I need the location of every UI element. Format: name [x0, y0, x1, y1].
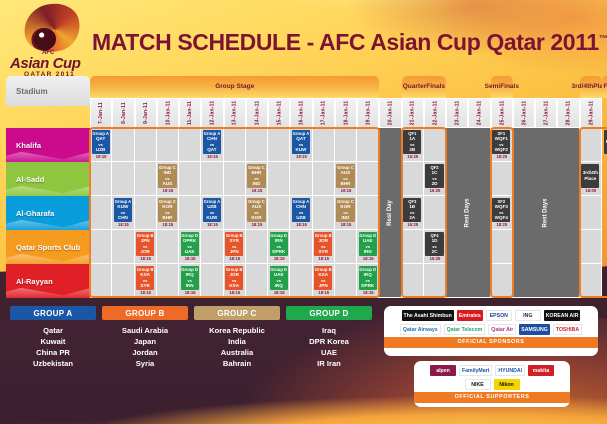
trademark-symbol: ™	[599, 33, 607, 43]
legend-team-name: Jordan	[102, 347, 188, 358]
grid-cell	[313, 128, 335, 162]
match-kickoff-time: 19:15	[201, 154, 223, 159]
legend-group-title: GROUP A	[10, 306, 96, 320]
match-matrix: Rest DayRest DaysRest DaysGroup AQATvsUZ…	[90, 128, 602, 298]
poster-header: AFC Asian Cup QATAR 2011 www.afcasiancup…	[0, 0, 607, 78]
schedule-grid: Stadium KhalifaAl-SaddAl-GharafaQatar Sp…	[6, 128, 602, 298]
date-cell-26-Jan-11: 26-Jan-11	[513, 98, 535, 128]
match-kickoff-time: 18:15	[112, 222, 134, 227]
date-label: 25-Jan-11	[499, 101, 505, 126]
group-legend: GROUP AQatarKuwaitChina PRUzbekistanGROU…	[10, 306, 370, 388]
phase-header-line: Finals	[426, 83, 445, 91]
match-kickoff-time: 18:15	[290, 222, 312, 227]
grid-cell	[246, 264, 268, 298]
grid-cell	[90, 196, 112, 230]
sponsor-logo-samsung[interactable]: SAMSUNG	[519, 324, 550, 335]
logo-asian-cup-text: Asian Cup	[10, 55, 81, 72]
date-label: 18-Jan-11	[343, 101, 349, 126]
supporter-logo-nikon[interactable]: Nikon	[494, 379, 520, 390]
rest-day-block: Rest Day	[379, 128, 400, 297]
grid-cell	[157, 230, 179, 264]
date-label: 20-Jan-11	[388, 101, 394, 126]
match-card[interactable]: QF11Avs2B	[403, 130, 421, 154]
grid-cell	[90, 264, 112, 298]
grid-cell	[90, 162, 112, 196]
stadium-wave-decoration	[6, 148, 90, 162]
match-kickoff-time: 16:25	[424, 188, 446, 193]
grid-cell	[335, 230, 357, 264]
official-sponsors-label: OFFICIAL SPONSORS	[384, 337, 598, 348]
match-away-team: AUS	[163, 181, 173, 186]
match-card[interactable]: Group CKORvsBHR	[158, 198, 176, 222]
legend-team-name: Bahrain	[194, 358, 280, 369]
date-cell-25-Jan-11: 25-Jan-11	[491, 98, 513, 128]
grid-cell	[290, 264, 312, 298]
match-card[interactable]: QF41Dvs2C	[425, 232, 443, 256]
phase-header-line: 3rd/4th	[572, 83, 594, 91]
match-away-team: IND	[342, 215, 350, 220]
date-cell-21-Jan-11: 21-Jan-11	[402, 98, 424, 128]
grid-cell	[90, 230, 112, 264]
match-card[interactable]: QF31Bvs2A	[403, 198, 421, 222]
match-away-team: BHR	[341, 181, 351, 186]
phase-header-line: Group Stage	[215, 83, 254, 91]
match-kickoff-time: 18:15	[268, 290, 290, 295]
grid-cell	[335, 128, 357, 162]
match-away-team: WQF4	[495, 215, 508, 220]
legend-team-list: Saudi ArabiaJapanJordanSyria	[102, 325, 188, 369]
date-label: 27-Jan-11	[543, 101, 549, 126]
date-cell-17-Jan-11: 17-Jan-11	[313, 98, 335, 128]
legend-team-name: Iraq	[286, 325, 372, 336]
match-card[interactable]: Group CAUSvsKOR	[247, 198, 265, 222]
grid-cell	[135, 128, 157, 162]
date-cell-19-Jan-11: 19-Jan-11	[357, 98, 379, 128]
grid-cell	[580, 196, 602, 230]
match-away-team: SYR	[318, 249, 327, 254]
match-kickoff-time: 16:00	[580, 188, 602, 193]
legend-team-name: Kuwait	[10, 336, 96, 347]
poster-root: AFC Asian Cup QATAR 2011 www.afcasiancup…	[0, 0, 607, 424]
grid-cell	[246, 230, 268, 264]
legend-team-name: Uzbekistan	[10, 358, 96, 369]
legend-team-name: IR Iran	[286, 358, 372, 369]
grid-cell	[135, 196, 157, 230]
legend-team-name: Japan	[102, 336, 188, 347]
match-kickoff-time: 18:15	[335, 222, 357, 227]
match-card[interactable]: Group AUZBvsKUW	[203, 198, 221, 222]
supporter-logo-familymart[interactable]: FamilyMart	[459, 365, 492, 376]
match-kickoff-time: 18:15	[201, 222, 223, 227]
grid-cell	[580, 264, 602, 298]
match-kickoff-time: 18:15	[357, 256, 379, 261]
grid-cell	[491, 264, 513, 298]
date-cell-18-Jan-11: 18-Jan-11	[335, 98, 357, 128]
match-away-team: IRN	[186, 283, 194, 288]
match-away-team: DPRK	[272, 249, 285, 254]
match-card[interactable]: Group BKSAvsJPN	[314, 266, 332, 290]
match-schedule-table: Group StageQuarterFinalsSemiFinals3rd/4t…	[6, 76, 602, 298]
stadium-wave-decoration	[6, 250, 90, 264]
legend-team-name: China PR	[10, 347, 96, 358]
date-label: 10-Jan-11	[165, 101, 171, 126]
date-label: 23-Jan-11	[454, 101, 460, 126]
match-kickoff-time: 19:15	[90, 154, 112, 159]
rest-day-block: Rest Days	[446, 128, 490, 297]
grid-cell	[335, 264, 357, 298]
match-away-team: KUW	[295, 147, 306, 152]
legend-team-name: Saudi Arabia	[102, 325, 188, 336]
grid-cell	[112, 230, 134, 264]
match-kickoff-time: 16:25	[402, 154, 424, 159]
page-title-text: MATCH SCHEDULE - AFC Asian Cup Qatar 201…	[92, 29, 599, 55]
date-cell-16-Jan-11: 16-Jan-11	[290, 98, 312, 128]
legend-group-title: GROUP B	[102, 306, 188, 320]
stadium-name-label: Al-Sadd	[16, 175, 44, 184]
grid-cell	[201, 230, 223, 264]
grid-cell	[424, 128, 446, 162]
match-away-team: IND	[252, 181, 260, 186]
date-label: 7-Jan-11	[98, 102, 104, 124]
grid-cell	[268, 162, 290, 196]
stadium-row-al-sadd[interactable]: Al-Sadd	[6, 162, 90, 196]
match-away-team: 2A	[409, 215, 415, 220]
grid-cell	[201, 162, 223, 196]
phase-header-4: 3rd/4thPlace	[580, 76, 602, 98]
grid-cell	[402, 264, 424, 298]
match-card[interactable]: Group BSYRvsJPN	[225, 232, 243, 256]
supporter-logo-hyundai[interactable]: HYUNDAI	[495, 365, 525, 376]
legend-team-name: Korea Republic	[194, 325, 280, 336]
date-cell-24-Jan-11: 24-Jan-11	[468, 98, 490, 128]
match-kickoff-time: 18:15	[313, 256, 335, 261]
grid-cell	[357, 196, 379, 230]
grid-cell	[268, 128, 290, 162]
match-card[interactable]: Group DIRQvsIRN	[181, 266, 199, 290]
date-cell-22-Jan-11: 22-Jan-11	[424, 98, 446, 128]
grid-cell	[290, 230, 312, 264]
grid-cell	[224, 162, 246, 196]
match-kickoff-time: 18:15	[224, 290, 246, 295]
legend-team-name: Qatar	[10, 325, 96, 336]
match-card[interactable]: Group AKUWvsCHN	[114, 198, 132, 222]
match-card[interactable]: Group AQATvsKUW	[292, 130, 310, 154]
match-card[interactable]: Group AQATvsUZB	[92, 130, 110, 154]
date-cell-15-Jan-11: 15-Jan-11	[268, 98, 290, 128]
match-away-team: KSA	[229, 283, 239, 288]
sponsor-logo-korean-air[interactable]: KOREAN AIR	[544, 310, 581, 321]
sponsor-logo-qatar-airways[interactable]: Qatar Airways	[400, 324, 441, 335]
rest-day-block: Rest Days	[513, 128, 579, 297]
match-away-team: JPN	[319, 283, 328, 288]
legend-group-title: GROUP C	[194, 306, 280, 320]
match-kickoff-time: 18:15	[313, 290, 335, 295]
match-away-team: KOR	[251, 215, 261, 220]
legend-team-name: DPR Korea	[286, 336, 372, 347]
legend-team-name: India	[194, 336, 280, 347]
phase-header-line: Finals	[500, 83, 519, 91]
grid-cell	[112, 162, 134, 196]
legend-group-b: GROUP BSaudi ArabiaJapanJordanSyria	[102, 306, 188, 369]
sponsor-logo-epson[interactable]: EPSON	[486, 310, 512, 321]
date-cell-7-Jan-11: 7-Jan-11	[90, 98, 112, 128]
legend-team-list: QatarKuwaitChina PRUzbekistan	[10, 325, 96, 369]
grid-cell	[424, 264, 446, 298]
match-card[interactable]: Group ACHNvsQAT	[203, 130, 221, 154]
grid-cell	[201, 264, 223, 298]
phase-header-line: FINAL	[604, 83, 607, 91]
match-card[interactable]: 3rd/4thPlace	[581, 164, 599, 188]
grid-cell	[402, 230, 424, 264]
stadium-name-label: Khalifa	[16, 141, 41, 150]
match-away-team: UZB	[96, 147, 105, 152]
match-kickoff-time: 18:15	[246, 222, 268, 227]
match-away-team: 2B	[409, 147, 415, 152]
match-kickoff-time: 19:15	[246, 188, 268, 193]
match-away-team: Place	[584, 176, 596, 181]
sponsor-logo-ing[interactable]: ING	[515, 310, 541, 321]
date-cell-20-Jan-11: 20-Jan-11	[379, 98, 401, 128]
date-cell-12-Jan-11: 12-Jan-11	[201, 98, 223, 128]
match-kickoff-time: 18:00	[602, 154, 607, 159]
match-kickoff-time: 19:15	[157, 188, 179, 193]
match-away-team: UAE	[185, 249, 195, 254]
phase-header-5: FINAL	[602, 76, 607, 98]
grid-cell	[357, 128, 379, 162]
phase-header-2: QuarterFinals	[402, 76, 447, 98]
date-cell-8-Jan-11: 8-Jan-11	[112, 98, 134, 128]
supporter-logo-makita[interactable]: makita	[528, 365, 554, 376]
match-kickoff-time: 19:15	[335, 188, 357, 193]
match-away-team: 2C	[432, 249, 438, 254]
match-kickoff-time: 16:25	[402, 222, 424, 227]
match-away-team: QAT	[207, 147, 216, 152]
match-kickoff-time: 18:25	[491, 222, 513, 227]
logo-football-icon	[34, 28, 56, 50]
match-card[interactable]: Group BKSAvsSYR	[136, 266, 154, 290]
date-cell-11-Jan-11: 11-Jan-11	[179, 98, 201, 128]
match-kickoff-time: 18:25	[491, 154, 513, 159]
phase-header-3: SemiFinals	[491, 76, 513, 98]
match-card[interactable]: Group CKORvsIND	[336, 198, 354, 222]
date-label: 21-Jan-11	[410, 101, 416, 126]
match-card[interactable]: Group BJORvsSYR	[314, 232, 332, 256]
sponsor-logo-qatar-air[interactable]: Qatar Air	[488, 324, 516, 335]
legend-group-title: GROUP D	[286, 306, 372, 320]
date-label: 16-Jan-11	[298, 101, 304, 126]
date-label: 15-Jan-11	[276, 101, 282, 126]
legend-team-list: IraqDPR KoreaUAEIR Iran	[286, 325, 372, 369]
official-sponsors-panel: The Asahi ShimbunEmiratesEPSONINGKOREAN …	[384, 306, 598, 356]
match-away-team: 2D	[432, 181, 438, 186]
official-supporters-label: OFFICIAL SUPPORTERS	[414, 392, 570, 403]
supporter-logo-alpen[interactable]: alpen	[430, 365, 456, 376]
stadium-row-al-gharafa[interactable]: Al-Gharafa	[6, 196, 90, 230]
legend-group-a: GROUP AQatarKuwaitChina PRUzbekistan	[10, 306, 96, 369]
match-kickoff-time: 18:15	[357, 290, 379, 295]
match-card[interactable]: Group DUAEvsIRN	[359, 232, 377, 256]
grid-cell	[357, 162, 379, 196]
match-card[interactable]: Group CAUSvsBHR	[336, 164, 354, 188]
grid-cell	[290, 162, 312, 196]
legend-team-name: Australia	[194, 347, 280, 358]
date-cell-23-Jan-11: 23-Jan-11	[446, 98, 468, 128]
date-label: 11-Jan-11	[187, 101, 193, 125]
sponsor-logo-grid: The Asahi ShimbunEmiratesEPSONINGKOREAN …	[384, 306, 598, 337]
supporter-logo-nike[interactable]: NIKE	[465, 379, 491, 390]
date-label: 17-Jan-11	[321, 101, 327, 126]
rest-day-label: Rest Day	[387, 200, 393, 226]
grid-cell	[112, 264, 134, 298]
match-kickoff-time: 19:15	[290, 154, 312, 159]
match-card[interactable]: Group CINDvsAUS	[158, 164, 176, 188]
grid-cell	[246, 128, 268, 162]
date-label: 14-Jan-11	[254, 101, 260, 126]
date-cell-27-Jan-11: 27-Jan-11	[535, 98, 557, 128]
match-kickoff-time: 18:15	[224, 256, 246, 261]
stadium-column-header: Stadium	[6, 76, 90, 106]
match-away-team: CHN	[118, 215, 128, 220]
match-card[interactable]: Group DIRQvsDPRK	[359, 266, 377, 290]
grid-cell	[424, 196, 446, 230]
grid-cell	[179, 162, 201, 196]
legend-group-c: GROUP CKorea RepublicIndiaAustraliaBahra…	[194, 306, 280, 369]
rest-day-label: Rest Days	[465, 198, 471, 227]
match-card[interactable]: SF2WQF3vsWQF4	[492, 198, 510, 222]
legend-group-d: GROUP DIraqDPR KoreaUAEIR Iran	[286, 306, 372, 369]
match-kickoff-time: 18:15	[157, 222, 179, 227]
date-cell-29-Jan-11: 29-Jan-11	[580, 98, 602, 128]
stadium-wave-decoration	[6, 284, 90, 298]
rest-day-label: Rest Days	[543, 198, 549, 227]
match-away-team: SYR	[140, 283, 149, 288]
date-label: 8-Jan-11	[120, 102, 126, 124]
sponsor-logo-toshiba[interactable]: TOSHIBA	[553, 324, 582, 335]
match-away-team: BHR	[162, 215, 172, 220]
match-card[interactable]: Group CBHRvsIND	[247, 164, 265, 188]
phase-header-line: Quarter	[403, 83, 426, 91]
match-away-team: WQF2	[495, 147, 508, 152]
match-card[interactable]: Group ACHNvsUZB	[292, 198, 310, 222]
match-kickoff-time: 18:15	[135, 256, 157, 261]
date-label: 22-Jan-11	[432, 101, 438, 126]
match-away-team: IRN	[364, 249, 372, 254]
grid-cell	[580, 128, 602, 162]
date-cell-14-Jan-11: 14-Jan-11	[246, 98, 268, 128]
match-away-team: KUW	[206, 215, 217, 220]
stadium-name-label: Al-Gharafa	[16, 209, 54, 218]
match-kickoff-time: 18:15	[135, 290, 157, 295]
sponsor-logo-emirates[interactable]: Emirates	[457, 310, 483, 321]
stadium-row-qatar-sports-club[interactable]: Qatar Sports Club	[6, 230, 90, 264]
date-label: 28-Jan-11	[566, 101, 572, 126]
grid-cell	[313, 196, 335, 230]
date-cell-28-Jan-11: 28-Jan-11	[557, 98, 579, 128]
grid-cell	[268, 196, 290, 230]
grid-cell	[179, 196, 201, 230]
grid-cell	[224, 128, 246, 162]
match-card[interactable]: Group DIRNvsDPRK	[270, 232, 288, 256]
grid-cell	[313, 162, 335, 196]
stadium-row-khalifa[interactable]: Khalifa	[6, 128, 90, 162]
match-away-team: JPN	[230, 249, 239, 254]
date-label: 24-Jan-11	[477, 101, 483, 126]
supporter-logo-grid: alpenFamilyMartHYUNDAImakitaNIKENikon	[414, 361, 570, 392]
stadium-wave-decoration	[6, 182, 90, 196]
match-card[interactable]: FINAL	[604, 130, 607, 154]
date-label: 19-Jan-11	[365, 101, 371, 126]
legend-team-name: Syria	[102, 358, 188, 369]
date-cell-13-Jan-11: 13-Jan-11	[224, 98, 246, 128]
match-kickoff-time: 18:15	[179, 256, 201, 261]
grid-cell	[179, 128, 201, 162]
date-label: 9-Jan-11	[143, 102, 149, 124]
legend-team-list: Korea RepublicIndiaAustraliaBahrain	[194, 325, 280, 369]
sponsor-logo-the-asahi-shimbun[interactable]: The Asahi Shimbun	[402, 310, 454, 321]
match-card[interactable]: Group BJORvsKSA	[225, 266, 243, 290]
stadium-wave-decoration	[6, 216, 90, 230]
grid-cell	[157, 128, 179, 162]
phase-header-line: Semi	[485, 83, 501, 91]
phase-header-1: Group Stage	[90, 76, 379, 98]
match-kickoff-time: 18:15	[268, 256, 290, 261]
grid-cell	[580, 230, 602, 264]
date-label: 13-Jan-11	[232, 101, 238, 126]
date-label: 26-Jan-11	[521, 101, 527, 126]
page-title: MATCH SCHEDULE - AFC Asian Cup Qatar 201…	[92, 29, 607, 56]
stadium-name-label: Al-Rayyan	[16, 277, 53, 286]
date-label: 29-Jan-11	[588, 101, 594, 126]
match-card[interactable]: Group BJPNvsJOR	[136, 232, 154, 256]
match-away-team: UZB	[296, 215, 305, 220]
date-cell-9-Jan-11: 9-Jan-11	[135, 98, 157, 128]
grid-cell	[157, 264, 179, 298]
match-kickoff-time: 16:25	[424, 256, 446, 261]
date-cell-10-Jan-11: 10-Jan-11	[157, 98, 179, 128]
stadium-row-al-rayyan[interactable]: Al-Rayyan	[6, 264, 90, 298]
grid-cell	[491, 230, 513, 264]
match-kickoff-time: 18:15	[179, 290, 201, 295]
match-away-team: DPRK	[361, 283, 374, 288]
grid-cell	[224, 196, 246, 230]
grid-cell	[402, 162, 424, 196]
logo-swirl-icon	[20, 0, 85, 57]
match-card[interactable]: SF1WQF1vsWQF2	[492, 130, 510, 154]
date-label: 12-Jan-11	[209, 101, 215, 126]
sponsor-logo-qatar-telecom[interactable]: Qatar Telecom	[444, 324, 486, 335]
match-card[interactable]: QF21Cvs2D	[425, 164, 443, 188]
match-card[interactable]: Group DUAEvsIRQ	[270, 266, 288, 290]
stadium-name-label: Qatar Sports Club	[16, 243, 80, 252]
official-supporters-panel: alpenFamilyMartHYUNDAImakitaNIKENikon OF…	[414, 361, 570, 407]
grid-cell	[112, 128, 134, 162]
grid-cell	[491, 162, 513, 196]
grid-cell	[135, 162, 157, 196]
match-away-team: JOR	[140, 249, 149, 254]
match-away-team: IRQ	[275, 283, 283, 288]
legend-team-name: UAE	[286, 347, 372, 358]
match-card[interactable]: Group DDPRKvsUAE	[181, 232, 199, 256]
